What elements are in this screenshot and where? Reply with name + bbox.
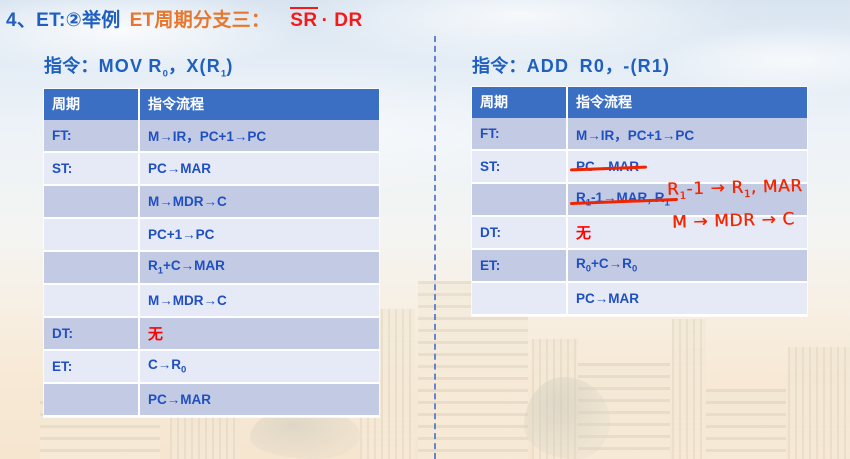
right-cycle-table: 周期 指令流程 FT:M→IR，PC+1→PCST:PC→MARR1-1→MAR…: [472, 87, 807, 316]
cell-flow: R0+C→R0: [567, 249, 807, 282]
cell-cycle: ST:: [44, 152, 139, 185]
left-heading-comma: ，: [168, 56, 186, 76]
cell-cycle: [472, 183, 567, 216]
branch-expression: SR· DR: [290, 10, 362, 32]
annotation-2: M → MDR → C: [672, 209, 795, 232]
cell-cycle: [44, 251, 139, 284]
left-heading-operand2-pre: X(R: [186, 56, 221, 76]
flow-text: R1+C→MAR: [148, 258, 225, 273]
branch-overline-term: SR: [290, 7, 317, 31]
left-heading-operand2-post: ): [226, 56, 233, 76]
right-heading-mnemonic: ADD: [527, 56, 570, 76]
left-heading-operand1: R: [148, 56, 162, 76]
right-heading-comma: ，: [605, 56, 623, 76]
annotation-1: R1-1 → R1, MAR: [667, 176, 803, 202]
table-row: ET:R0+C→R0: [472, 249, 807, 282]
slide-title: 4、ET:②举例 ET周期分支三： SR· DR: [6, 5, 363, 32]
cell-cycle: ET:: [472, 249, 567, 282]
cell-cycle: ST:: [472, 150, 567, 183]
flow-text: M→IR，PC+1→PC: [576, 128, 694, 143]
table-row: FT:M→IR，PC+1→PC: [44, 120, 379, 152]
table-row: PC+1→PC: [44, 218, 379, 251]
header-flow: 指令流程: [139, 89, 379, 120]
table-row: ST:PC→MAR: [44, 152, 379, 185]
cell-flow: PC→MAR: [567, 282, 807, 315]
table-row: FT:M→IR，PC+1→PC: [472, 118, 807, 150]
flow-text: C→R0: [148, 357, 186, 372]
header-cycle: 周期: [472, 87, 567, 118]
flow-text: M→MDR→C: [148, 194, 227, 209]
flow-text: PC→MAR: [576, 291, 639, 306]
right-instruction-heading: 指令：ADD R0，-(R1): [472, 52, 812, 78]
table-row: DT:无: [44, 317, 379, 350]
cell-cycle: DT:: [44, 317, 139, 350]
cell-flow: R1+C→MAR: [139, 251, 379, 284]
cell-cycle: DT:: [472, 216, 567, 249]
cell-cycle: [472, 282, 567, 315]
cell-cycle: ET:: [44, 350, 139, 383]
cell-cycle: [44, 284, 139, 317]
cell-flow: M→MDR→C: [139, 284, 379, 317]
cell-flow: M→MDR→C: [139, 185, 379, 218]
left-heading-prefix: 指令：: [44, 56, 99, 76]
table-row: ET:C→R0: [44, 350, 379, 383]
cell-flow: PC→MAR: [139, 383, 379, 416]
flow-text: PC→MAR: [148, 392, 211, 407]
cell-flow: PC+1→PC: [139, 218, 379, 251]
cell-cycle: FT:: [44, 120, 139, 152]
table-row: M→MDR→C: [44, 185, 379, 218]
branch-rest-term: · DR: [322, 10, 363, 31]
struck-flow-text: PC→MAR: [576, 159, 639, 174]
cell-flow: PC→MAR: [139, 152, 379, 185]
left-heading-mnemonic: MOV: [99, 56, 144, 76]
table-header-row: 周期 指令流程: [44, 89, 379, 120]
cell-cycle: FT:: [472, 118, 567, 150]
cell-flow: 无: [139, 317, 379, 350]
flow-text: M→MDR→C: [148, 293, 227, 308]
title-number: 4、ET:②举例: [6, 5, 121, 32]
struck-flow-text: R1-1→MAR, R1: [576, 190, 670, 209]
flow-text: 无: [148, 326, 163, 343]
right-heading-operand1: R0: [580, 56, 605, 76]
right-heading-prefix: 指令：: [472, 56, 527, 76]
header-flow: 指令流程: [567, 87, 807, 118]
flow-text: PC+1→PC: [148, 227, 214, 242]
right-heading-operand2: -(R1): [623, 56, 670, 76]
table-row: PC→MAR: [472, 282, 807, 315]
table-row: M→MDR→C: [44, 284, 379, 317]
slide-canvas: 4、ET:②举例 ET周期分支三： SR· DR 指令：MOV R0，X(R1)…: [0, 0, 850, 459]
left-instruction-heading: 指令：MOV R0，X(R1): [44, 52, 384, 80]
table-header-row: 周期 指令流程: [472, 87, 807, 118]
panel-divider: [434, 36, 436, 459]
flow-text: R0+C→R0: [576, 256, 637, 271]
title-subject: ET周期分支三：: [130, 5, 271, 32]
cell-cycle: [44, 383, 139, 416]
left-panel: 指令：MOV R0，X(R1) 周期 指令流程 FT:M→IR，PC+1→PCS…: [44, 52, 384, 417]
flow-text: M→IR，PC+1→PC: [148, 129, 266, 144]
table-row: R1+C→MAR: [44, 251, 379, 284]
flow-text: 无: [576, 225, 591, 242]
flow-text: PC→MAR: [148, 161, 211, 176]
cell-flow: M→IR，PC+1→PC: [139, 120, 379, 152]
cell-cycle: [44, 218, 139, 251]
cell-flow: C→R0: [139, 350, 379, 383]
table-row: PC→MAR: [44, 383, 379, 416]
cell-flow: M→IR，PC+1→PC: [567, 118, 807, 150]
cell-cycle: [44, 185, 139, 218]
header-cycle: 周期: [44, 89, 139, 120]
left-cycle-table: 周期 指令流程 FT:M→IR，PC+1→PCST:PC→MARM→MDR→CP…: [44, 89, 379, 417]
